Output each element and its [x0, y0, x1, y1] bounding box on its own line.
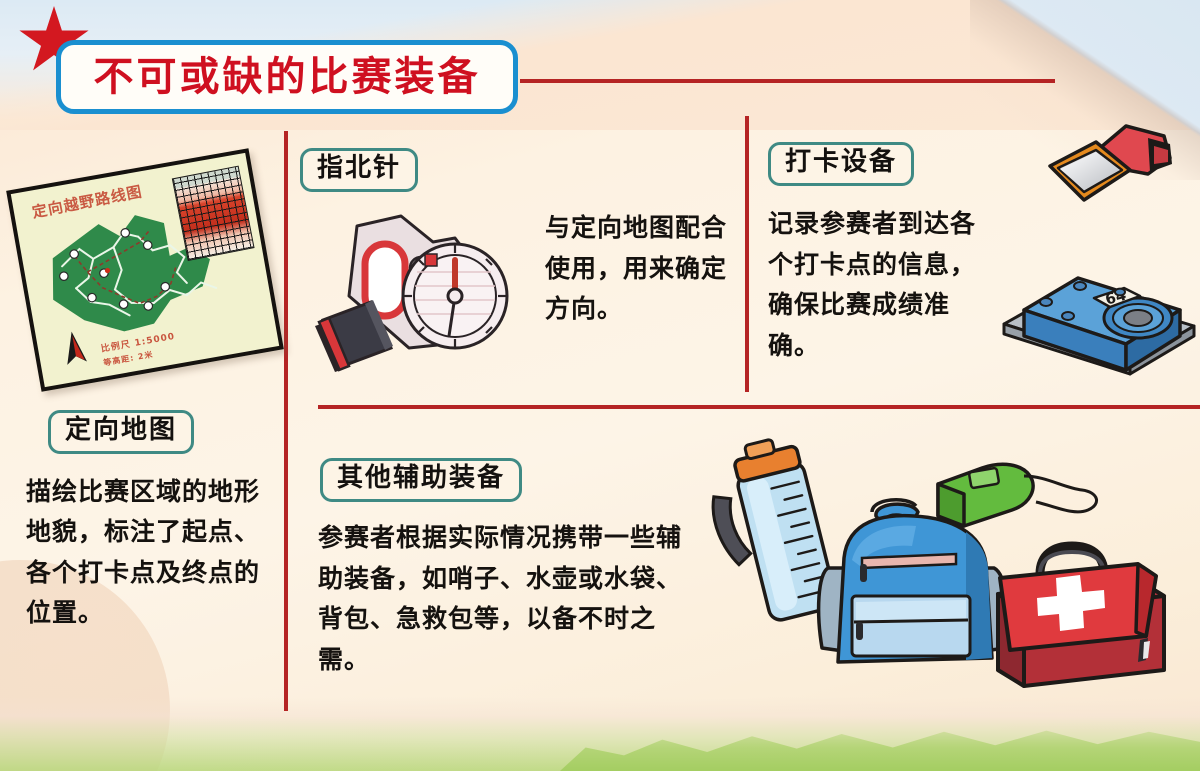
compass-icon: [305, 200, 545, 390]
orienteering-map-illustration: 定向越野路线图: [8, 150, 278, 380]
other-gear-illustration: [708, 428, 1198, 708]
section-badge-punch-device[interactable]: 打卡设备: [768, 142, 914, 186]
first-aid-kit-icon: [998, 546, 1164, 686]
map-card: 定向越野路线图: [6, 148, 284, 392]
whistle-icon: [938, 464, 1097, 526]
page-title: 不可或缺的比赛装备: [94, 57, 481, 97]
divider-vertical-left: [284, 131, 288, 711]
section-punch-device: 打卡设备 记录参赛者到达各个打卡点的信息，确保比赛成绩准确。: [768, 142, 1198, 392]
section-badge-other-gear[interactable]: 其他辅助装备: [320, 458, 522, 502]
si-station-icon: 64: [998, 240, 1200, 380]
section-badge-compass[interactable]: 指北针: [300, 148, 418, 192]
si-card-wristband-icon: [1030, 112, 1190, 232]
divider-horizontal: [318, 405, 1200, 409]
section-text-punch-device: 记录参赛者到达各个打卡点的信息，确保比赛成绩准确。: [768, 204, 990, 366]
section-badge-label: 打卡设备: [785, 148, 897, 177]
section-text-orienteering-map: 描绘比赛区域的地形地貌，标注了起点、各个打卡点及终点的位置。: [26, 472, 276, 634]
section-badge-orienteering-map[interactable]: 定向地图: [48, 410, 194, 454]
section-text-compass: 与定向地图配合使用，用来确定方向。: [545, 208, 745, 330]
section-badge-label: 指北针: [317, 154, 401, 183]
divider-vertical-right: [745, 116, 749, 392]
section-other-gear: 其他辅助装备 参赛者根据实际情况携带一些辅助装备，如哨子、水壶或水袋、背包、急救…: [318, 458, 1188, 708]
section-compass: 指北针: [300, 148, 740, 388]
section-badge-label: 其他辅助装备: [337, 464, 505, 493]
page-title-box: 不可或缺的比赛装备: [56, 40, 518, 114]
section-orienteering-map: 定向地图 描绘比赛区域的地形地貌，标注了起点、各个打卡点及终点的位置。: [26, 410, 276, 634]
title-rule-line: [520, 79, 1055, 83]
backpack-icon: [819, 500, 1009, 662]
infographic-page: 不可或缺的比赛装备 定向越野路线图: [0, 0, 1200, 771]
section-badge-label: 定向地图: [65, 416, 177, 445]
section-text-other-gear: 参赛者根据实际情况携带一些辅助装备，如哨子、水壶或水袋、背包、急救包等，以备不时…: [318, 518, 698, 680]
